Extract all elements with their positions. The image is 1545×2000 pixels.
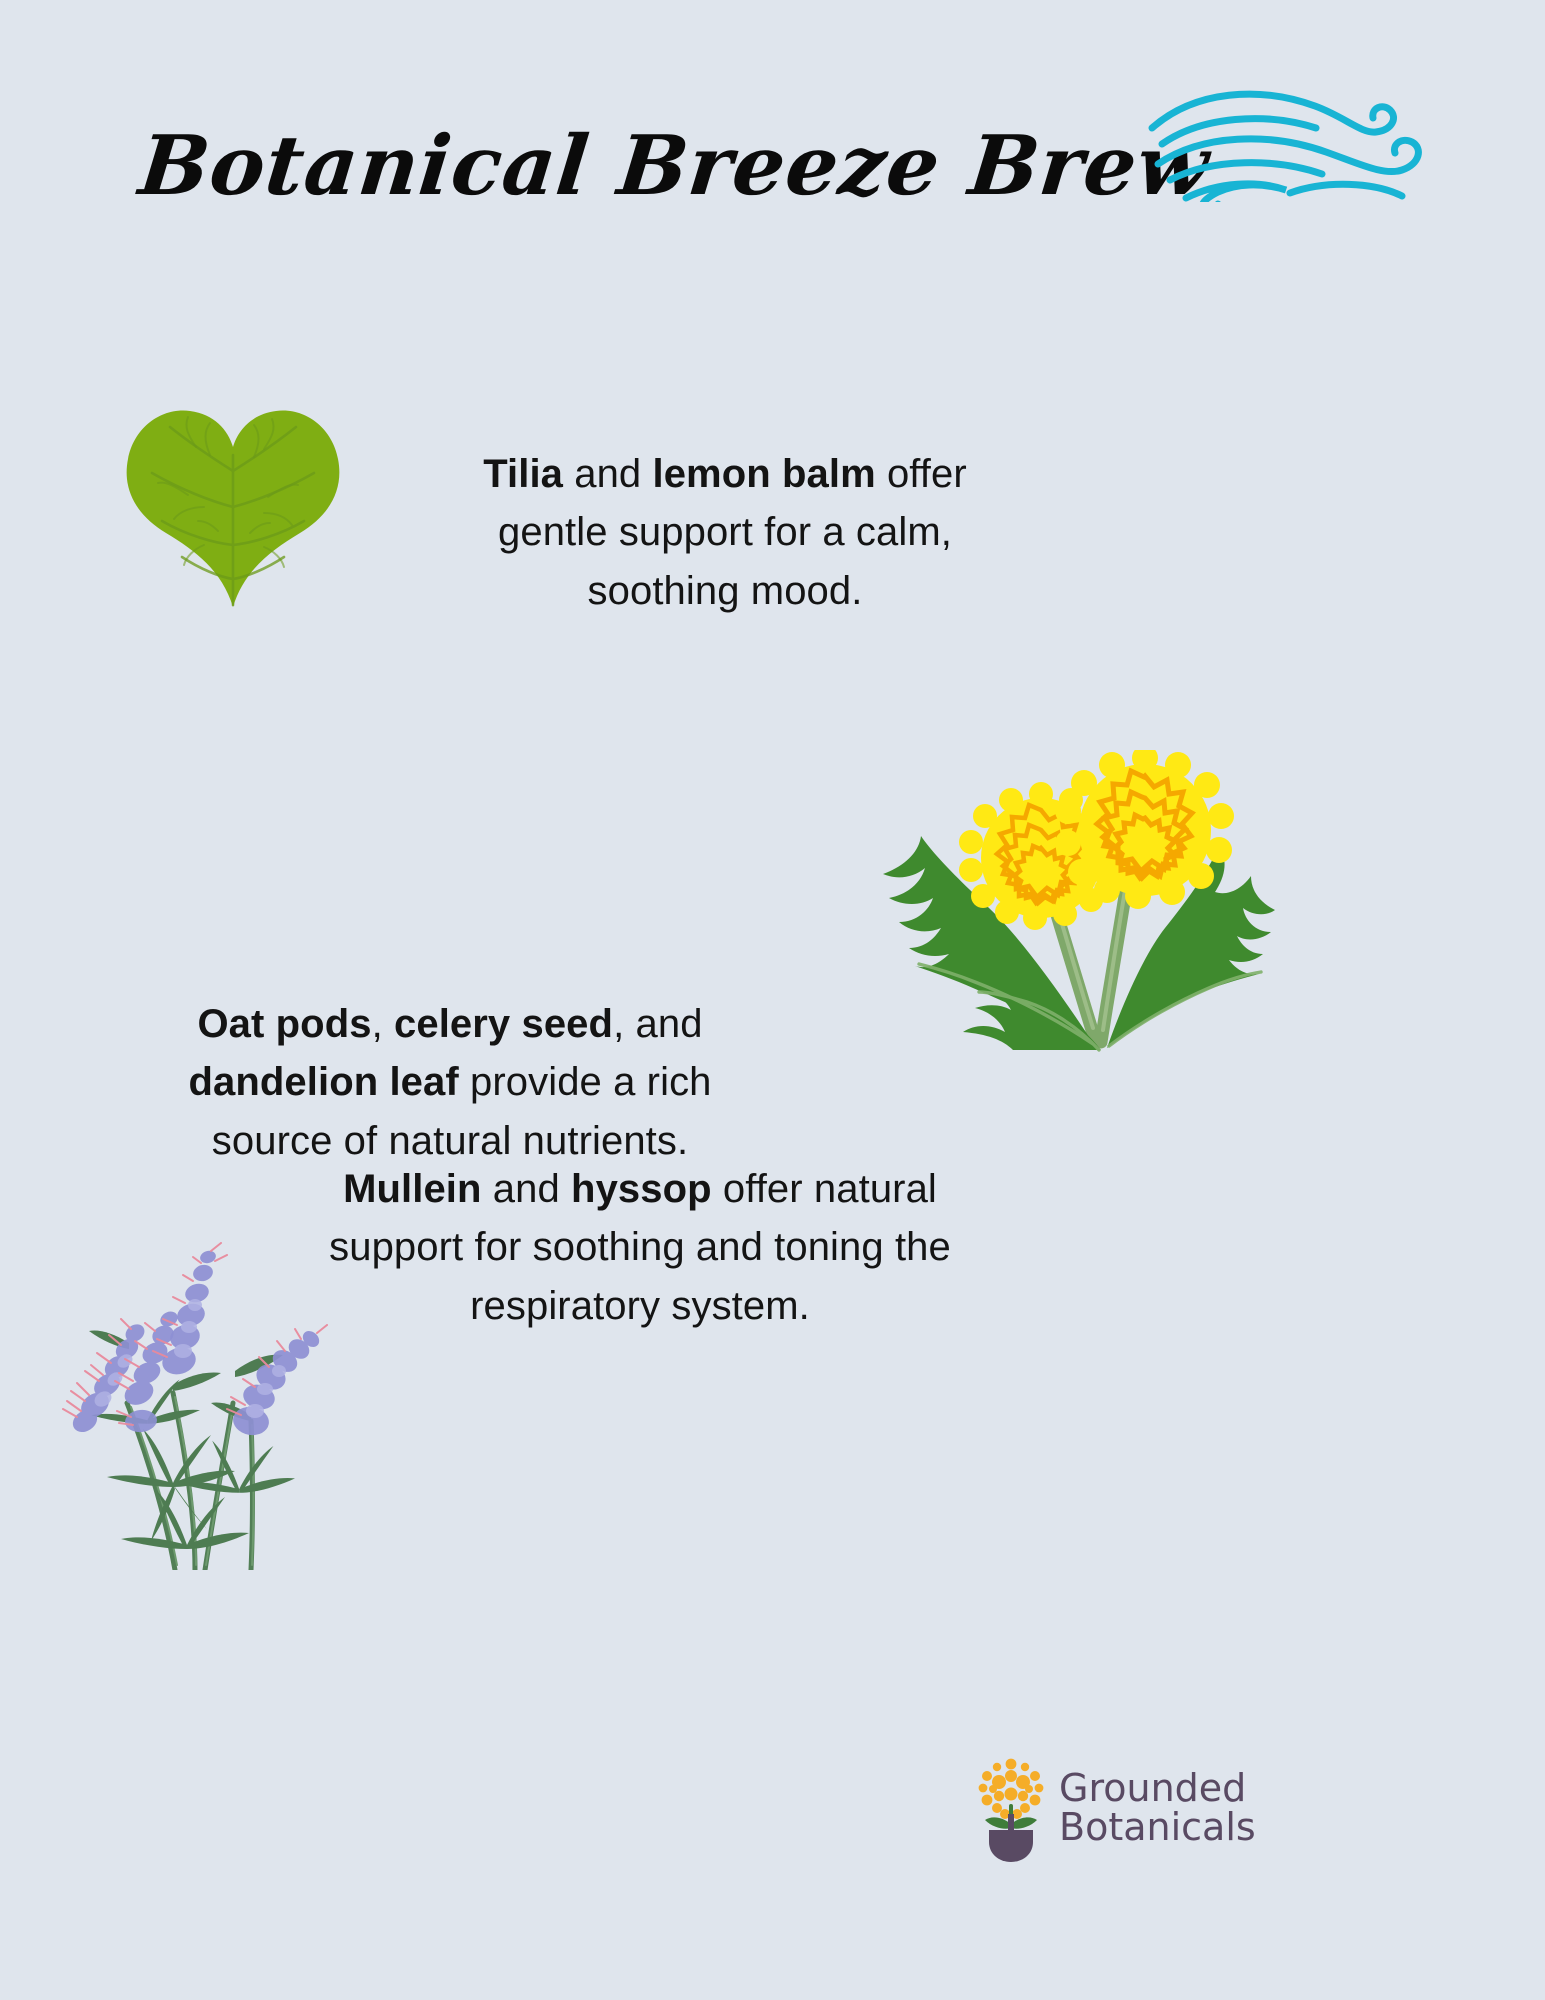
logo-line-1: Grounded [1059,1769,1256,1808]
sep-2: , and [613,1002,702,1046]
poster-canvas: Botanical Breeze Brew [0,0,1545,2000]
term-dandelion-leaf: dandelion leaf [188,1060,458,1104]
grounded-botanicals-logo[interactable]: Grounded Botanicals [975,1750,1285,1865]
logo-wordmark: Grounded Botanicals [1059,1769,1256,1847]
term-oat-pods: Oat pods [197,1002,371,1046]
conj-and-3: and [482,1167,571,1211]
logo-line-2: Botanicals [1059,1808,1256,1847]
term-mullein: Mullein [343,1167,481,1211]
term-tilia: Tilia [483,452,563,496]
content-block-1: Tilia and lemon balm offer gentle suppor… [430,405,1020,660]
term-celery-seed: celery seed [394,1002,613,1046]
logo-flower-spade-icon [975,1754,1047,1862]
content-block-3: Mullein and hyssop offer natural support… [320,1120,960,1375]
hyssop-icon [55,1225,345,1570]
block-3-paragraph: Mullein and hyssop offer natural support… [320,1160,960,1335]
conj-and-1: and [563,452,652,496]
wind-swirl-icon [1140,72,1430,202]
term-lemon-balm: lemon balm [652,452,875,496]
term-hyssop: hyssop [571,1167,712,1211]
dandelion-icon [855,750,1275,1055]
page-title: Botanical Breeze Brew [135,118,1214,214]
sep-1: , [372,1002,394,1046]
block-1-paragraph: Tilia and lemon balm offer gentle suppor… [430,445,1020,620]
heart-leaf-icon [118,385,348,610]
poster-header: Botanical Breeze Brew [0,0,1545,300]
